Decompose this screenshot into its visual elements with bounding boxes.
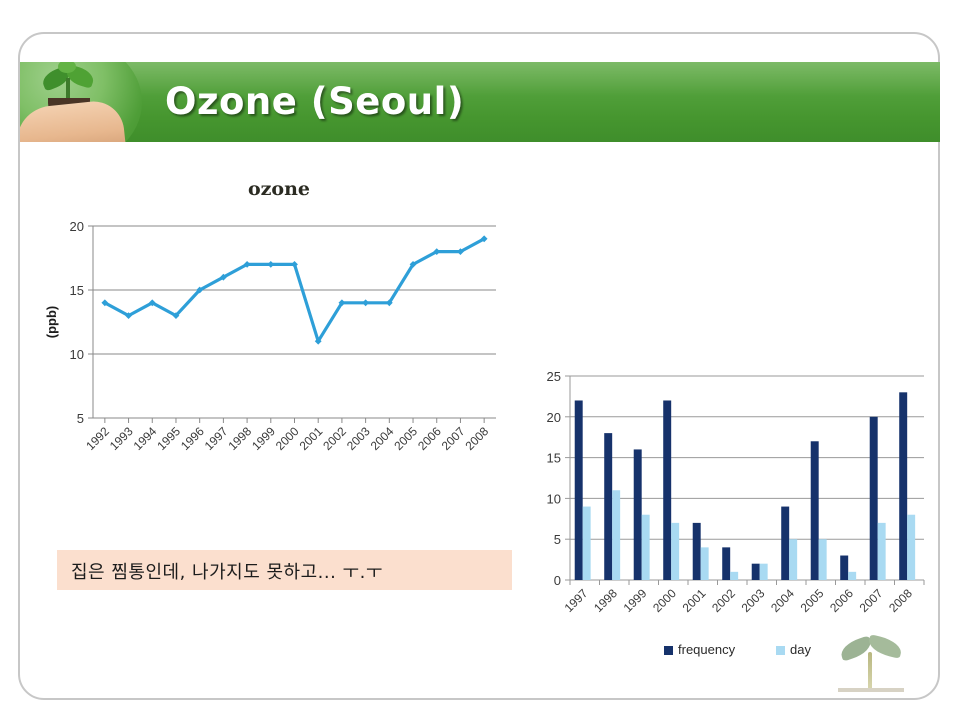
bar-chart-ytick-label: 20 xyxy=(547,410,561,425)
line-chart-ytick-label: 15 xyxy=(70,283,84,298)
bar-frequency xyxy=(663,400,671,580)
seedling-in-hand-photo xyxy=(20,62,142,142)
slide-header-banner: Ozone (Seoul) xyxy=(20,62,940,142)
line-chart-xtick-label: 1992 xyxy=(83,424,112,453)
line-chart-ytick-label: 10 xyxy=(70,347,84,362)
bar-frequency xyxy=(604,433,612,580)
bar-chart-xtick-label: 2001 xyxy=(680,586,709,615)
line-chart-xtick-label: 2007 xyxy=(439,424,468,453)
bar-chart-xtick-label: 2002 xyxy=(709,586,738,615)
line-chart-xtick-label: 2005 xyxy=(391,424,420,453)
line-chart-ytick-label: 5 xyxy=(77,411,84,426)
bar-day xyxy=(907,515,915,580)
bar-day xyxy=(701,547,709,580)
bar-day xyxy=(583,507,591,580)
legend-swatch-frequency xyxy=(664,646,673,655)
bar-chart-xtick-label: 2000 xyxy=(650,586,679,615)
bar-frequency xyxy=(840,556,848,580)
bar-day xyxy=(642,515,650,580)
line-chart-xtick-label: 1998 xyxy=(225,424,254,453)
sprout-decoration-icon xyxy=(838,630,904,692)
ozone-line-chart: ozone 5101520199219931994199519961997199… xyxy=(38,172,520,492)
line-chart-xtick-label: 2003 xyxy=(344,424,373,453)
bar-frequency xyxy=(752,564,760,580)
bar-day xyxy=(819,539,827,580)
line-chart-title: ozone xyxy=(38,178,520,200)
bar-chart-xtick-label: 1998 xyxy=(591,586,620,615)
korean-caption-text: 집은 찜통인데, 나가지도 못하고... ㅜ.ㅜ xyxy=(57,550,512,584)
ozone-alert-bar-chart: 0510152025199719981999200020012002200320… xyxy=(524,362,944,672)
line-chart-xtick-label: 2002 xyxy=(320,424,349,453)
line-chart-xtick-label: 1997 xyxy=(202,424,231,453)
legend-swatch-day xyxy=(776,646,785,655)
bar-chart-plot: 0510152025199719981999200020012002200320… xyxy=(524,362,944,672)
bar-frequency xyxy=(575,400,583,580)
bar-chart-xtick-label: 2006 xyxy=(827,586,856,615)
bar-chart-ytick-label: 15 xyxy=(547,451,561,466)
bar-day xyxy=(789,539,797,580)
bar-frequency xyxy=(811,441,819,580)
ozone-data-point xyxy=(267,261,274,268)
bar-frequency xyxy=(722,547,730,580)
bar-chart-xtick-label: 2004 xyxy=(768,586,797,615)
bar-chart-ytick-label: 25 xyxy=(547,369,561,384)
line-chart-xtick-label: 2001 xyxy=(297,424,326,453)
page-title: Ozone (Seoul) xyxy=(165,80,464,123)
line-chart-xtick-label: 1993 xyxy=(107,424,136,453)
bar-chart-ytick-label: 10 xyxy=(547,491,561,506)
line-chart-xtick-label: 2006 xyxy=(415,424,444,453)
bar-day xyxy=(612,490,620,580)
ozone-data-point xyxy=(362,299,369,306)
bar-chart-xtick-label: 2007 xyxy=(857,586,886,615)
bar-frequency xyxy=(693,523,701,580)
bar-frequency xyxy=(899,392,907,580)
slide-canvas: Ozone (Seoul) ozone 51015201992199319941… xyxy=(0,0,960,720)
banner-sheen xyxy=(20,62,940,96)
bar-day xyxy=(730,572,738,580)
bar-day xyxy=(848,572,856,580)
bar-chart-xtick-label: 1999 xyxy=(621,586,650,615)
line-chart-xtick-label: 1996 xyxy=(178,424,207,453)
legend-label-frequency: frequency xyxy=(678,642,736,657)
bar-frequency xyxy=(870,417,878,580)
line-chart-ytick-label: 20 xyxy=(70,219,84,234)
bar-chart-xtick-label: 2005 xyxy=(798,586,827,615)
line-chart-plot: 5101520199219931994199519961997199819992… xyxy=(38,172,520,492)
bar-day xyxy=(760,564,768,580)
korean-caption-box: 집은 찜통인데, 나가지도 못하고... ㅜ.ㅜ xyxy=(57,550,512,590)
line-chart-xtick-label: 1995 xyxy=(154,424,183,453)
line-chart-xtick-label: 2004 xyxy=(368,424,397,453)
line-chart-xtick-label: 1999 xyxy=(249,424,278,453)
bar-day xyxy=(878,523,886,580)
legend-label-day: day xyxy=(790,642,811,657)
line-chart-xtick-label: 1994 xyxy=(131,424,160,453)
bar-chart-xtick-label: 2008 xyxy=(886,586,915,615)
bar-chart-xtick-label: 1997 xyxy=(562,586,591,615)
line-chart-xtick-label: 2008 xyxy=(462,424,491,453)
bar-frequency xyxy=(634,449,642,580)
bar-chart-ytick-label: 5 xyxy=(554,532,561,547)
bar-day xyxy=(671,523,679,580)
line-chart-xtick-label: 2000 xyxy=(273,424,302,453)
line-chart-y-axis-label: (ppb) xyxy=(44,306,59,338)
bar-chart-ytick-label: 0 xyxy=(554,573,561,588)
bar-chart-xtick-label: 2003 xyxy=(739,586,768,615)
bar-frequency xyxy=(781,507,789,580)
